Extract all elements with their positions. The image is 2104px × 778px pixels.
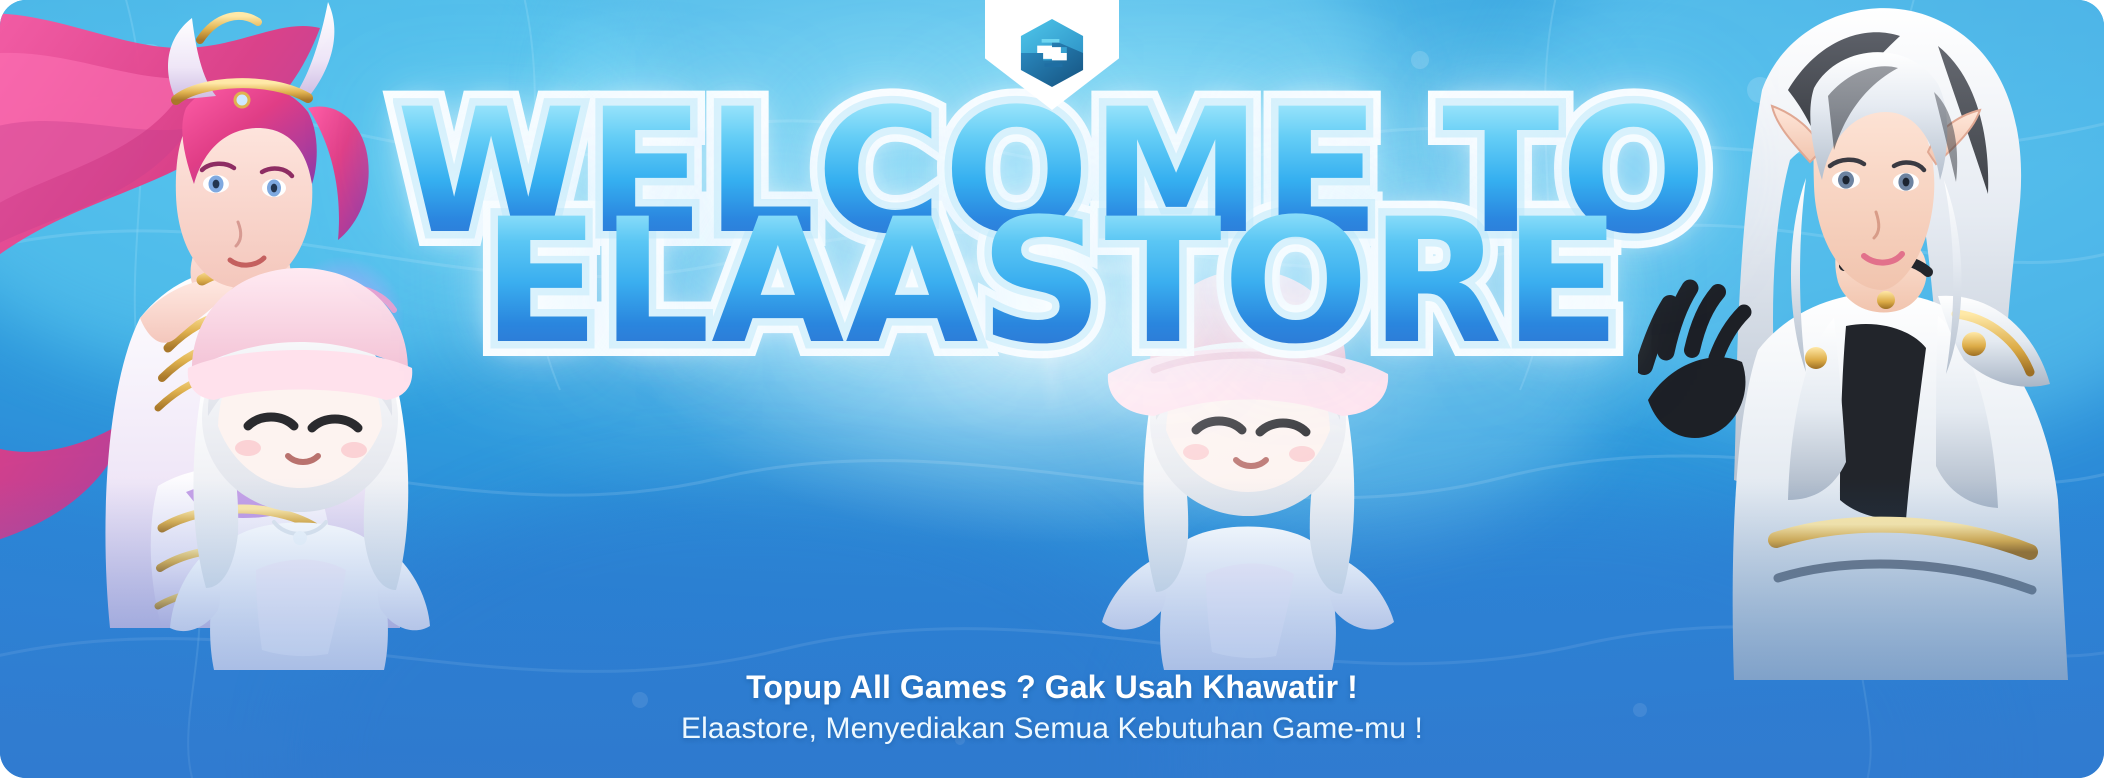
elaastore-hexagon-monogram-icon [1015, 16, 1089, 90]
headline-block: WELCOME TO WELCOME TO WELCOME TO ELAASTO… [0, 100, 2104, 355]
tagline-block: Topup All Games ? Gak Usah Khawatir ! El… [0, 669, 2104, 746]
tagline-primary: Topup All Games ? Gak Usah Khawatir ! [0, 669, 2104, 706]
headline-line-2-text: ELAASTORE [482, 210, 1622, 354]
hero-banner: WELCOME TO WELCOME TO WELCOME TO ELAASTO… [0, 0, 2104, 778]
tagline-secondary: Elaastore, Menyediakan Semua Kebutuhan G… [0, 712, 2104, 746]
brand-logo-badge[interactable] [985, 0, 1119, 110]
headline-line-2: ELAASTORE ELAASTORE ELAASTORE [0, 210, 2104, 354]
